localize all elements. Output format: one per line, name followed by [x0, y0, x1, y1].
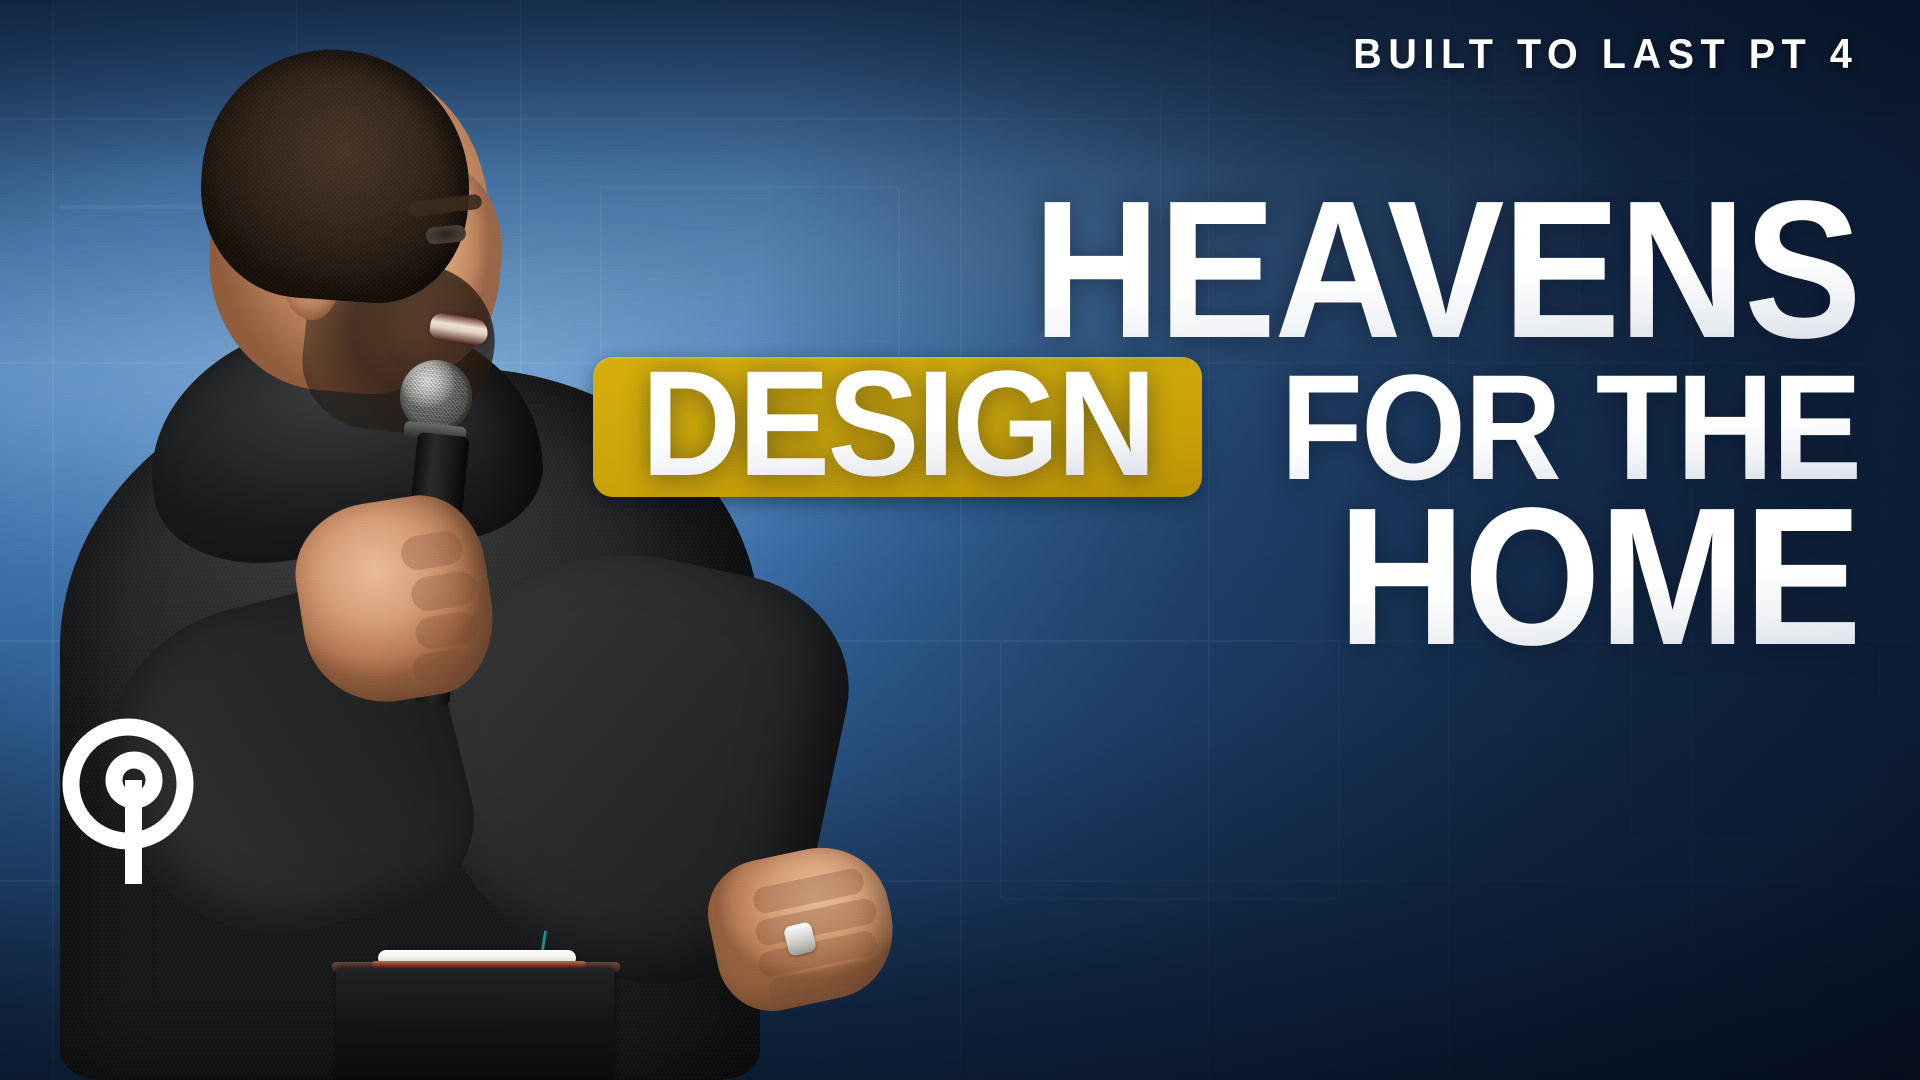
title-card: BUILT TO LAST PT 4 HEAVENS DESIGN FOR TH…	[0, 0, 1920, 1080]
film-grain-overlay	[0, 0, 1920, 1080]
